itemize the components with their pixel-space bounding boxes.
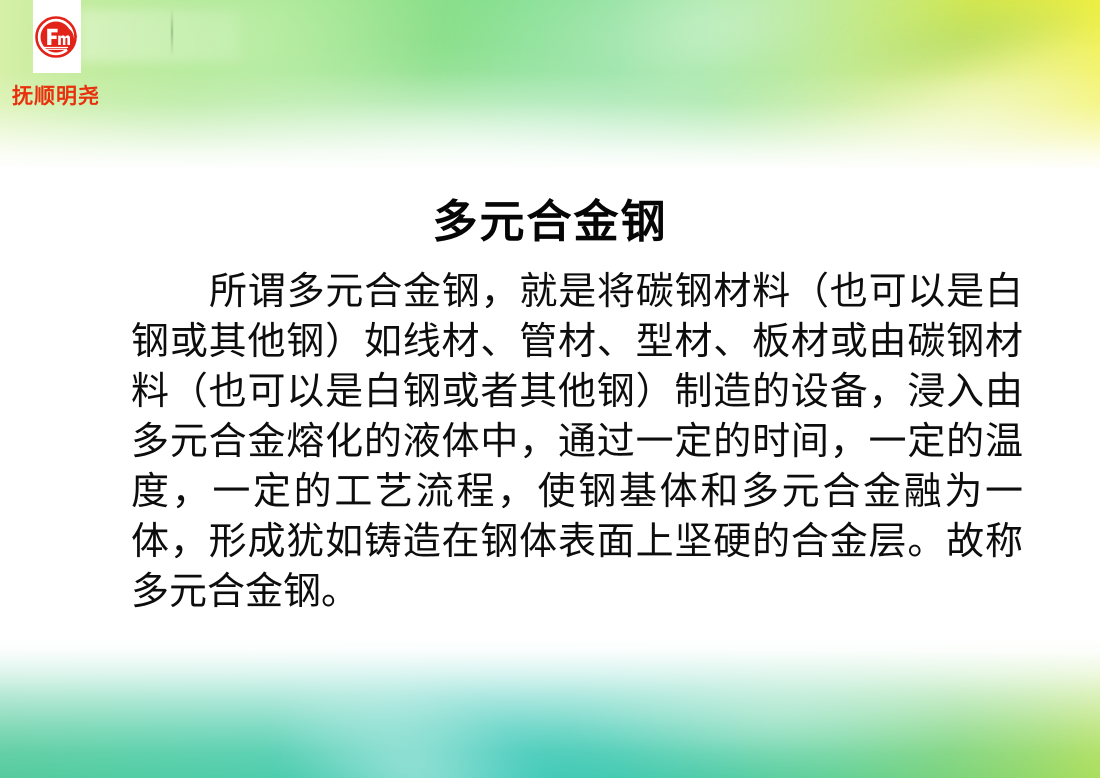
footer-white-fade [0, 638, 1100, 778]
slide-title: 多元合金钢 [0, 198, 1100, 247]
fmy-circle-logo-icon [35, 15, 79, 59]
company-name-label: 抚顺明尧 [12, 80, 100, 110]
presentation-slide: 抚顺明尧 多元合金钢 所谓多元合金钢，就是将碳钢材料（也可以是白钢或其他钢）如线… [0, 0, 1100, 778]
body-paragraph: 所谓多元合金钢，就是将碳钢材料（也可以是白钢或其他钢）如线材、管材、型材、板材或… [131, 266, 1023, 616]
slide-body: 所谓多元合金钢，就是将碳钢材料（也可以是白钢或其他钢）如线材、管材、型材、板材或… [131, 266, 1023, 616]
company-logo [33, 0, 81, 73]
slide-header-banner [0, 0, 1100, 170]
banner-white-fade [0, 0, 1100, 170]
slide-footer-banner [0, 638, 1100, 778]
